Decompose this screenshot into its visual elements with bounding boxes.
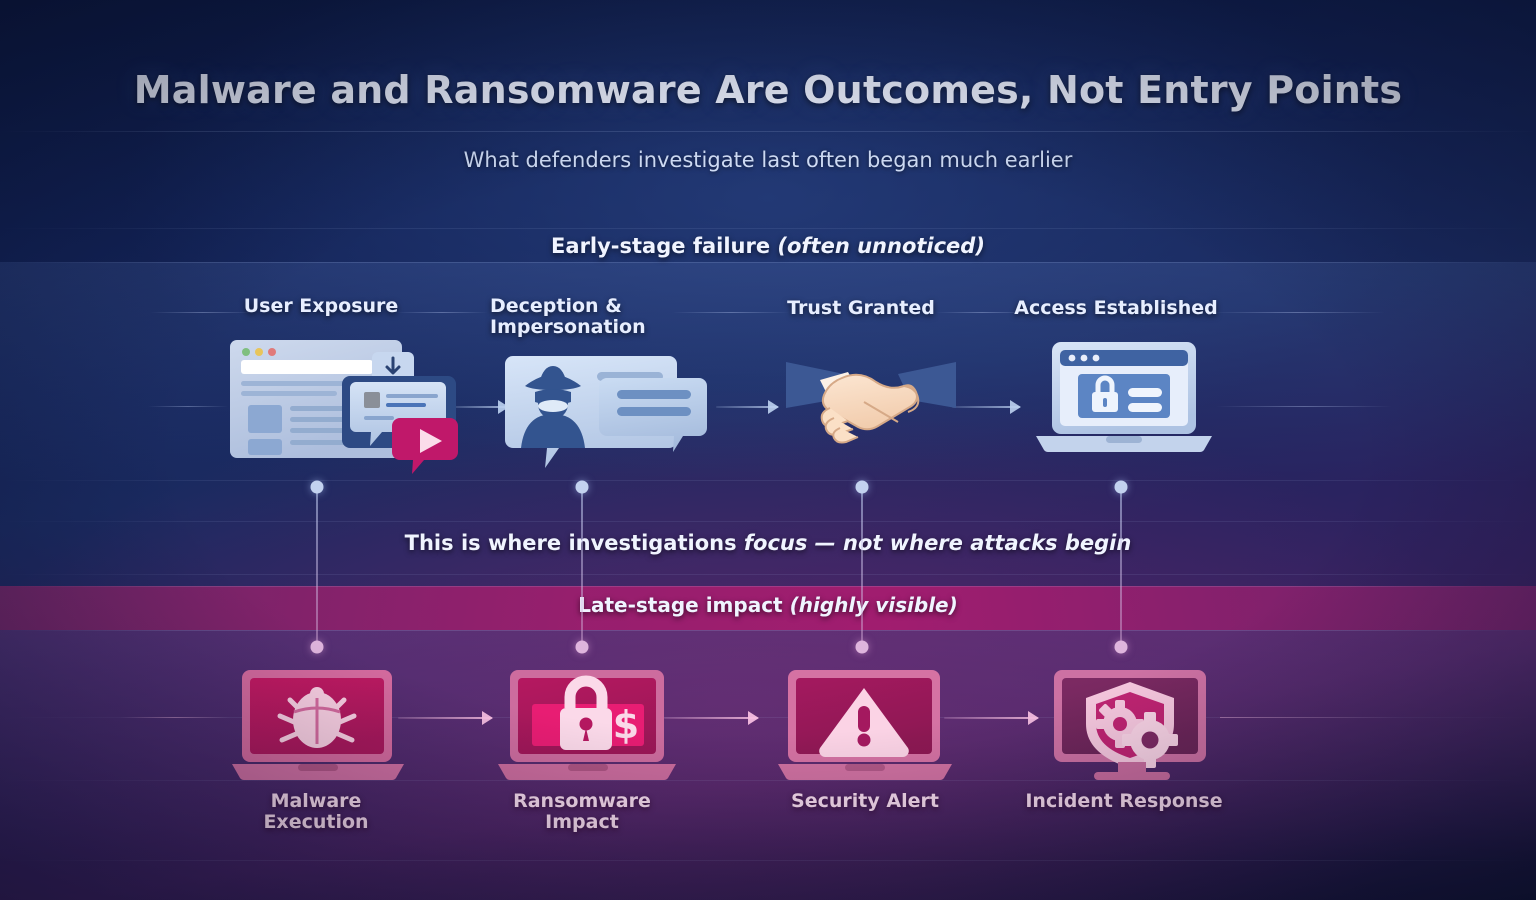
early-node-3-label: Access Established <box>996 298 1236 319</box>
late-arrow-2-3 <box>944 717 1038 719</box>
spy-chat-bubble-icon <box>505 352 715 472</box>
late-stage-band-label: Late-stage impact (highly visible) <box>0 593 1536 617</box>
rule-early-band-bottom <box>0 480 1536 481</box>
page-title: Malware and Ransomware Are Outcomes, Not… <box>0 68 1536 112</box>
drop-connector-0 <box>316 487 318 647</box>
drop-dot-top-2 <box>856 481 869 494</box>
early-band-label-plain: Early-stage failure <box>551 234 777 258</box>
monitor-shield-gears-icon <box>1044 668 1220 786</box>
rule-late-band-bottom <box>0 630 1536 631</box>
laptop-warning-triangle-icon <box>778 668 952 786</box>
early-node-3[interactable]: Access Established <box>996 298 1236 319</box>
late-arrow-1-2 <box>664 717 758 719</box>
rule-late-band-top <box>0 586 1536 587</box>
early-band-label-italic: (often unnoticed) <box>777 234 985 258</box>
laptop-lock-dollar-icon: $ <box>498 668 676 786</box>
early-stage-band-label: Early-stage failure (often unnoticed) <box>0 234 1536 258</box>
early-node-0-label: User Exposure <box>196 296 446 317</box>
drop-dot-bottom-0 <box>311 641 324 654</box>
late-node-1-label: Ransomware Impact <box>462 791 702 834</box>
early-arrow-1-2 <box>716 406 778 408</box>
early-node-2-label: Trust Granted <box>740 298 982 319</box>
drop-dot-top-1 <box>576 481 589 494</box>
late-node-0[interactable]: Malware Execution <box>196 791 436 834</box>
handshake-icon <box>786 356 956 452</box>
rule-title-underline <box>0 131 1536 132</box>
late-arrow-0-1 <box>398 717 492 719</box>
svg-text:$: $ <box>613 703 639 747</box>
middle-note-plain: This is where investigations <box>405 531 744 555</box>
middle-note-italic: focus — not where attacks begin <box>744 531 1131 555</box>
late-node-2[interactable]: Security Alert <box>745 791 985 812</box>
hairline-early-4 <box>1210 312 1385 313</box>
rule-upper-1 <box>0 228 1536 229</box>
rule-lower-2 <box>0 780 1536 781</box>
browser-download-chat-icon <box>228 336 468 468</box>
late-node-3-label: Incident Response <box>1004 791 1244 812</box>
late-node-1[interactable]: Ransomware Impact <box>462 791 702 834</box>
laptop-login-lock-icon <box>1034 340 1214 456</box>
early-node-2[interactable]: Trust Granted <box>740 298 982 319</box>
drop-dot-bottom-3 <box>1115 641 1128 654</box>
drop-connector-2 <box>861 487 863 647</box>
rule-early-band-top <box>0 262 1536 263</box>
early-lead-out-line <box>1216 406 1392 407</box>
rule-mid-2 <box>0 574 1536 575</box>
drop-dot-top-3 <box>1115 481 1128 494</box>
early-node-1-label: Deception & Impersonation <box>450 296 668 339</box>
rule-mid-1 <box>0 521 1536 522</box>
late-node-2-label: Security Alert <box>745 791 985 812</box>
rule-lower-3 <box>0 860 1536 861</box>
drop-connector-3 <box>1120 487 1122 647</box>
drop-dot-top-0 <box>311 481 324 494</box>
late-band-label-italic: (highly visible) <box>790 593 958 617</box>
late-lead-in-line <box>120 717 230 718</box>
page-subtitle: What defenders investigate last often be… <box>0 148 1536 172</box>
drop-dot-bottom-2 <box>856 641 869 654</box>
early-arrow-2-3 <box>952 406 1020 408</box>
late-lead-out-line <box>1220 717 1400 718</box>
early-node-0[interactable]: User Exposure <box>196 296 446 317</box>
early-node-1[interactable]: Deception & Impersonation <box>450 296 668 339</box>
late-node-3[interactable]: Incident Response <box>1004 791 1244 812</box>
late-band-label-plain: Late-stage impact <box>578 593 789 617</box>
early-lead-in-line <box>148 406 228 407</box>
middle-note-label: This is where investigations focus — not… <box>0 531 1536 555</box>
laptop-bug-icon <box>232 668 404 786</box>
drop-connector-1 <box>581 487 583 647</box>
infographic-canvas: Malware and Ransomware Are Outcomes, Not… <box>0 0 1536 900</box>
drop-dot-bottom-1 <box>576 641 589 654</box>
late-node-0-label: Malware Execution <box>196 791 436 834</box>
